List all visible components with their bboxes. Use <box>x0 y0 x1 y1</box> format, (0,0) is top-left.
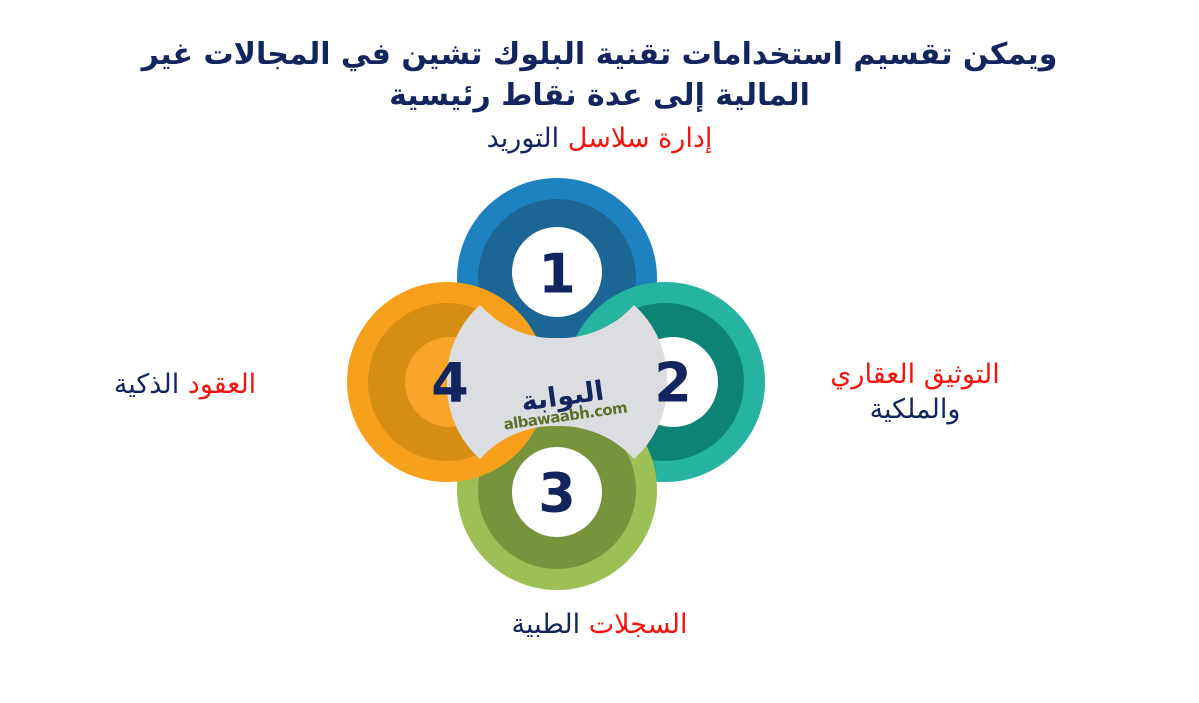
label-smart-contracts: العقود الذكية <box>60 368 310 403</box>
label-real-estate-navy: والملكية <box>870 394 961 425</box>
label-supply-chain: إدارة سلاسل التوريد <box>0 122 1199 157</box>
label-supply-chain-red: إدارة سلاسل <box>568 123 713 154</box>
label-real-estate: التوثيق العقاري والملكية <box>790 358 1040 427</box>
four-petal-diagram: 1 2 3 4 البوابة albawaabh.com <box>0 0 1199 703</box>
petal-1-number: 1 <box>538 243 576 306</box>
petal-diagram-svg: 1 2 3 4 <box>0 0 1199 703</box>
label-supply-chain-navy: التوريد <box>487 123 560 154</box>
label-medical-records: السجلات الطبية <box>0 608 1199 643</box>
label-medical-records-red: السجلات <box>589 609 688 640</box>
label-real-estate-red: التوثيق العقاري <box>830 359 999 390</box>
petal-2-number: 2 <box>654 352 692 415</box>
petal-3-number: 3 <box>538 462 576 525</box>
label-smart-contracts-red: العقود <box>188 369 256 400</box>
petal-4-number: 4 <box>431 352 469 415</box>
label-medical-records-navy: الطبية <box>511 609 580 640</box>
label-smart-contracts-navy: الذكية <box>114 369 179 400</box>
